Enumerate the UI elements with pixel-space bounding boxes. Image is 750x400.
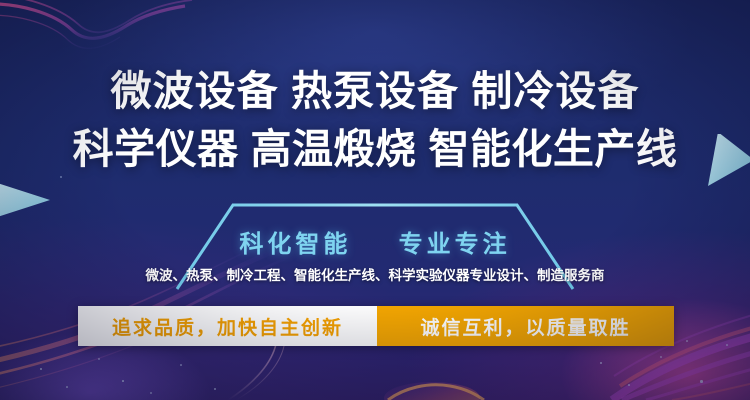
promotional-banner: 微波设备 热泵设备 制冷设备 科学仪器 高温煅烧 智能化生产线 科化智能 专业专…	[0, 0, 750, 400]
vignette-overlay	[0, 0, 750, 400]
